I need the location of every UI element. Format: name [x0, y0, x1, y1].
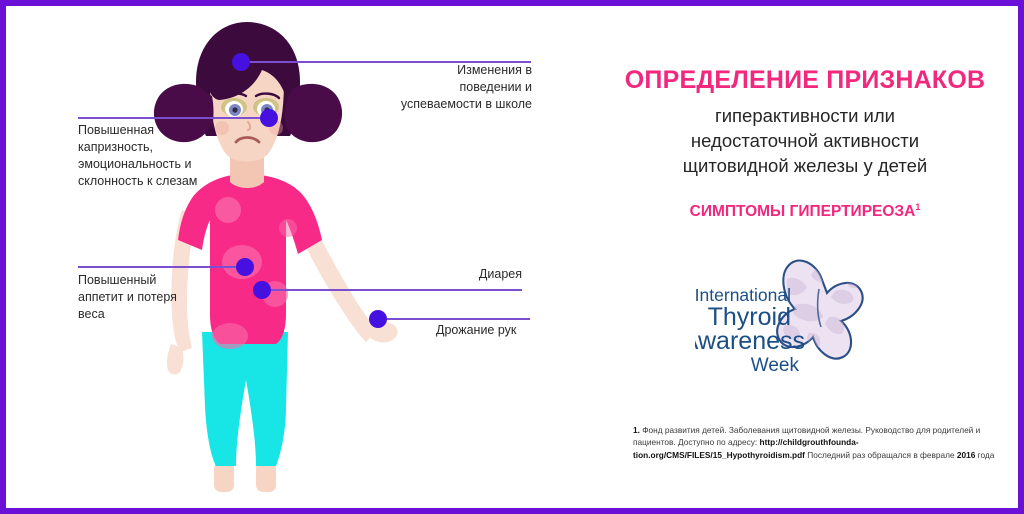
annotation-dot-moodiness-tearfulness: [260, 109, 278, 127]
annotation-label-hand-tremor: Дрожание рук: [436, 322, 566, 339]
annotation-dot-behaviour-school: [232, 53, 250, 71]
footnote-year: 2016: [957, 450, 975, 460]
annotation-line-appetite-weight-loss: [78, 266, 243, 268]
annotation-dot-hand-tremor: [369, 310, 387, 328]
annotation-label-behaviour-school: Изменения в поведении и успеваемости в ш…: [398, 62, 532, 113]
frame-border-right: [1018, 0, 1024, 514]
logo-line-3: Awareness: [695, 327, 805, 355]
panel-subhead-line-1: гиперактивности или: [614, 103, 996, 128]
annotation-label-moodiness-tearfulness: Повышенная капризность, эмоциональность …: [78, 122, 198, 190]
pants: [202, 332, 288, 466]
panel-subhead-line-2: недостаточной активности: [614, 128, 996, 153]
annotation-label-diarrhea: Диарея: [400, 266, 522, 283]
symptoms-footnote-marker: 1: [915, 202, 920, 212]
symptoms-title-row: СИМПТОМЫ ГИПЕРТИРЕОЗА1: [600, 202, 1010, 221]
panel-headline: ОПРЕДЕЛЕНИЕ ПРИЗНАКОВ: [600, 66, 1010, 95]
frame-border-left: [0, 0, 6, 514]
symptoms-title: СИМПТОМЫ ГИПЕРТИРЕОЗА: [690, 203, 916, 220]
infographic-poster: Изменения в поведении и успеваемости в ш…: [0, 0, 1024, 514]
footnote-citation: 1. Фонд развития детей. Заболевания щито…: [633, 424, 1001, 461]
annotation-label-appetite-weight-loss: Повышенный аппетит и потеря веса: [78, 272, 198, 323]
panel-subhead-line-3: щитовидной железы у детей: [614, 153, 996, 178]
footnote-text-part-2: Последний раз обращался в феврале: [805, 450, 957, 460]
annotation-dot-appetite-weight-loss: [236, 258, 254, 276]
frame-border-top: [0, 0, 1024, 6]
footnote-marker: 1.: [633, 425, 640, 435]
footnote-text-part-3: года: [975, 450, 994, 460]
frame-border-bottom: [0, 508, 1024, 514]
logo-line-4: Week: [751, 355, 800, 376]
annotation-dot-diarrhea: [253, 281, 271, 299]
child-illustration: [110, 14, 430, 506]
annotation-line-hand-tremor: [378, 318, 530, 320]
panel-subhead: гиперактивности или недостаточной активн…: [614, 103, 996, 178]
logo-line-1: International: [695, 285, 791, 305]
annotation-line-moodiness-tearfulness: [78, 117, 268, 119]
annotation-line-diarrhea: [262, 289, 522, 291]
thyroid-awareness-week-logo: International Thyroid Awareness Week: [695, 255, 925, 385]
info-panel: ОПРЕДЕЛЕНИЕ ПРИЗНАКОВ гиперактивности ил…: [600, 20, 1010, 494]
